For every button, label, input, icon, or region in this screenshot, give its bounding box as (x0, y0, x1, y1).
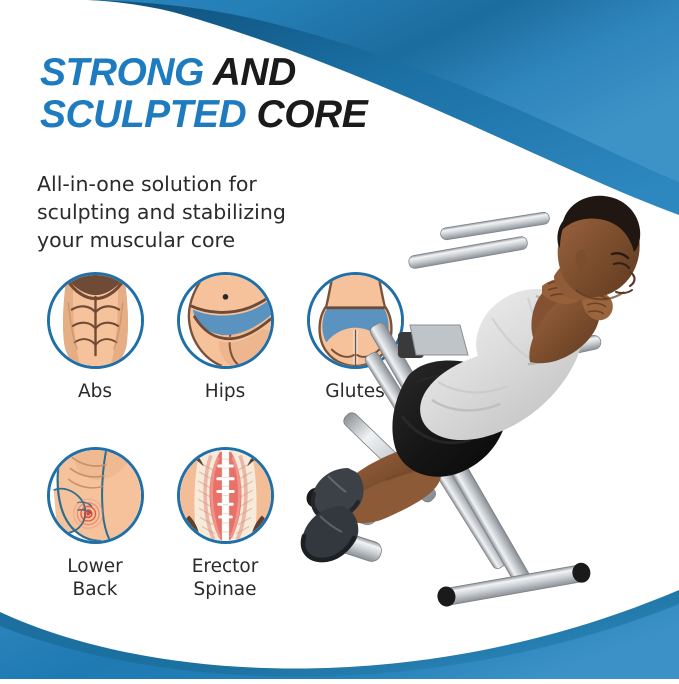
lower-back-pain-icon (47, 447, 144, 544)
headline-word-core: CORE (257, 93, 368, 136)
page-title: STRONG AND SCULPTED CORE (40, 52, 470, 136)
icon-label-hips: Hips (205, 380, 245, 403)
icon-label-lower-back: Lower Back (67, 555, 122, 601)
headline-line-2: SCULPTED CORE (40, 94, 470, 136)
infographic-canvas: STRONG AND SCULPTED CORE All-in-one solu… (0, 0, 679, 679)
headline-word-strong: STRONG (40, 51, 204, 94)
subtitle-line-3: your muscular core (37, 226, 337, 254)
glutes-icon (307, 272, 404, 369)
muscle-group-icon-grid: Abs (30, 272, 430, 601)
icon-label-erector-spinae: Erector Spinae (192, 555, 259, 601)
icon-label-glutes: Glutes (325, 380, 384, 403)
headline-line-1: STRONG AND (40, 52, 470, 94)
icon-cell-lower-back: Lower Back (30, 447, 160, 601)
icon-cell-glutes: Glutes (290, 272, 420, 403)
subtitle: All-in-one solution for sculpting and st… (37, 170, 337, 254)
icon-cell-abs: Abs (30, 272, 160, 403)
icon-label-abs: Abs (78, 380, 112, 403)
icon-row-top: Abs (30, 272, 430, 403)
abs-torso-icon (47, 272, 144, 369)
icon-cell-spacer (290, 447, 420, 601)
icon-row-bottom: Lower Back (30, 447, 430, 601)
headline-word-and: AND (213, 51, 296, 94)
headline-word-sculpted: SCULPTED (40, 93, 246, 136)
subtitle-line-1: All-in-one solution for (37, 170, 337, 198)
erector-spinae-icon (177, 447, 274, 544)
icon-cell-hips: Hips (160, 272, 290, 403)
subtitle-line-2: sculpting and stabilizing (37, 198, 337, 226)
hips-icon (177, 272, 274, 369)
icon-cell-erector-spinae: Erector Spinae (160, 447, 290, 601)
